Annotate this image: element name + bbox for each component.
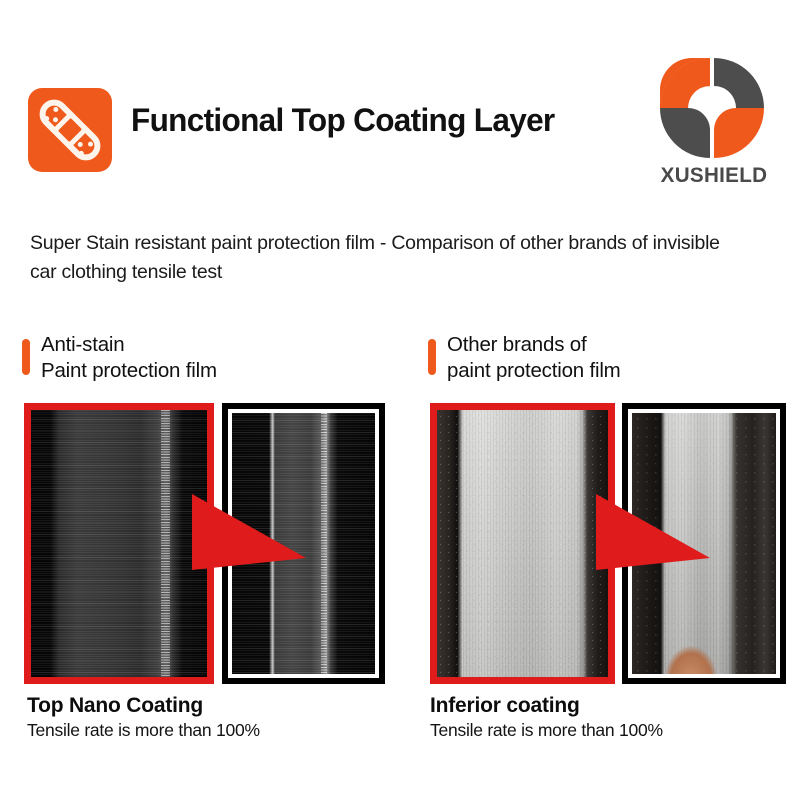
photo-other-brand-film-in-hand bbox=[632, 413, 776, 674]
photo-panel-anti-stain-secondary bbox=[222, 403, 385, 684]
caption-subtitle: Tensile rate is more than 100% bbox=[27, 720, 260, 741]
orange-bar-marker bbox=[428, 339, 436, 375]
caption-top-nano-coating: Top Nano Coating Tensile rate is more th… bbox=[27, 693, 260, 741]
caption-subtitle: Tensile rate is more than 100% bbox=[430, 720, 663, 741]
orange-bar-marker bbox=[22, 339, 30, 375]
page-title: Functional Top Coating Layer bbox=[131, 103, 616, 139]
brand-logo: XUSHIELD bbox=[648, 55, 780, 195]
caption-inferior-coating: Inferior coating Tensile rate is more th… bbox=[430, 693, 663, 741]
photo-panel-other-brands-primary bbox=[430, 403, 615, 684]
xushield-butterfly-mark-icon bbox=[654, 55, 770, 161]
column-heading-other-brands: Other brands of paint protection film bbox=[428, 332, 621, 384]
photo-other-brand-film bbox=[437, 410, 608, 677]
column-heading-anti-stain: Anti-stain Paint protection film bbox=[22, 332, 217, 384]
photo-anti-stain-film-closeup bbox=[232, 413, 375, 674]
heading-line-1: Anti-stain bbox=[41, 332, 217, 358]
crossed-bandages-icon bbox=[28, 88, 112, 172]
photo-panel-other-brands-secondary bbox=[622, 403, 786, 684]
header: Functional Top Coating Layer XUSHIELD bbox=[0, 0, 800, 205]
caption-title: Inferior coating bbox=[430, 693, 663, 718]
brand-wordmark: XUSHIELD bbox=[651, 163, 778, 188]
photo-panel-anti-stain-primary bbox=[24, 403, 214, 684]
subtitle: Super Stain resistant paint protection f… bbox=[30, 229, 750, 286]
photo-anti-stain-film bbox=[31, 410, 207, 677]
heading-line-1: Other brands of bbox=[447, 332, 621, 358]
heading-line-2: paint protection film bbox=[447, 358, 621, 384]
heading-line-2: Paint protection film bbox=[41, 358, 217, 384]
caption-title: Top Nano Coating bbox=[27, 693, 260, 718]
